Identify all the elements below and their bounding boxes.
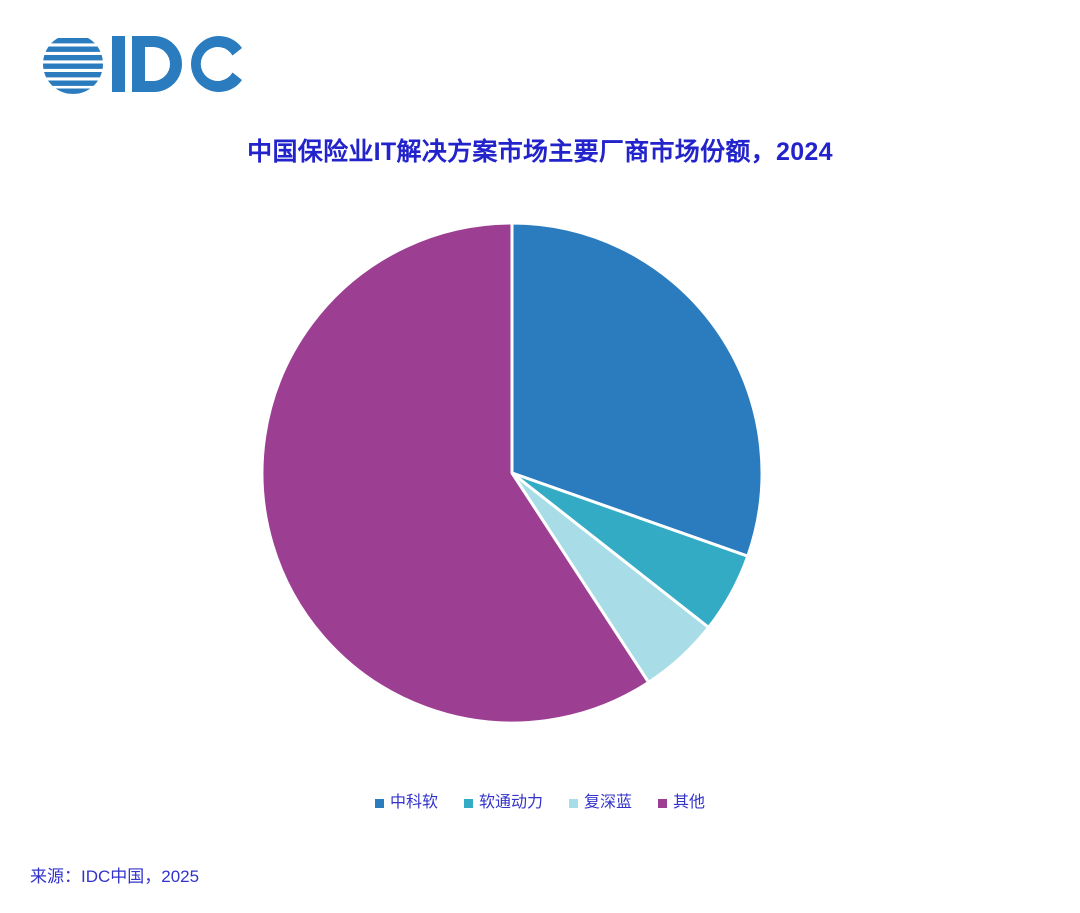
chart-title: 中国保险业IT解决方案市场主要厂商市场份额，2024 xyxy=(0,132,1080,168)
legend-label: 其他 xyxy=(673,795,705,811)
legend-label: 软通动力 xyxy=(479,795,543,811)
legend-label: 复深蓝 xyxy=(584,795,632,811)
legend-item-复深蓝[interactable]: 复深蓝 xyxy=(569,795,632,811)
legend-item-中科软[interactable]: 中科软 xyxy=(375,795,438,811)
legend-swatch-icon xyxy=(569,799,578,808)
legend-item-软通动力[interactable]: 软通动力 xyxy=(464,795,543,811)
chart-legend: 中科软软通动力复深蓝其他 xyxy=(0,795,1080,811)
source-note: 来源：IDC中国，2025 xyxy=(30,862,199,887)
legend-swatch-icon xyxy=(375,799,384,808)
legend-item-其他[interactable]: 其他 xyxy=(658,795,705,811)
pie-slice-group xyxy=(262,223,762,723)
legend-label: 中科软 xyxy=(390,795,438,811)
idc-logo xyxy=(36,26,246,102)
idc-globe-icon xyxy=(36,38,113,94)
legend-swatch-icon xyxy=(658,799,667,808)
pie-chart xyxy=(261,222,763,724)
idc-logo-svg xyxy=(36,26,246,102)
pie-chart-area xyxy=(0,200,1080,760)
legend-swatch-icon xyxy=(464,799,473,808)
